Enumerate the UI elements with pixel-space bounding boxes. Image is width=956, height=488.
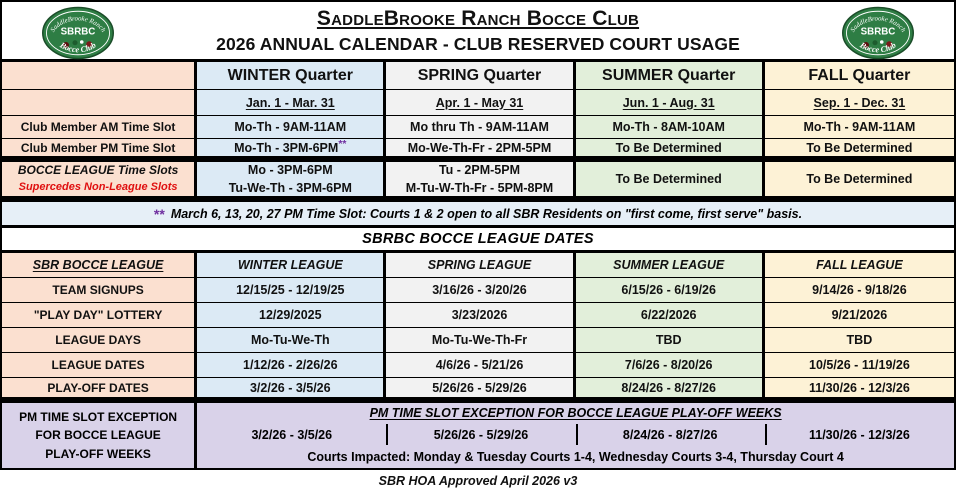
header-winter-quarter: WINTER Quarter [197,62,386,90]
label-league-dates: LEAGUE DATES [2,353,197,378]
pm-exception-label-line3: PLAY-OFF WEEKS [45,445,151,464]
league-row-team-signups: TEAM SIGNUPS 12/15/25 - 12/19/25 3/16/26… [2,278,954,303]
playoff-dates-summer: 8/24/26 - 8/27/26 [576,378,765,400]
league-row-play-day-lottery: "PLAY DAY" LOTTERY 12/29/2025 3/23/2026 … [2,303,954,328]
pm-winter-value: Mo-Th - 3PM-6PM** [197,139,386,159]
league-winter-line2: Tu-We-Th - 3PM-6PM [229,179,352,197]
pm-exception-block: PM TIME SLOT EXCEPTION FOR BOCCE LEAGUE … [2,403,954,470]
header-spring-quarter: SPRING Quarter [386,62,575,90]
footnote-stars: ** [154,206,165,222]
am-winter-value: Mo-Th - 9AM-11AM [197,116,386,139]
pm-exception-date-winter: 3/2/26 - 3/5/26 [197,423,386,446]
header-summer-quarter: SUMMER Quarter [576,62,765,90]
league-days-fall: TBD [765,328,954,353]
page-title: SaddleBrooke Ranch Bocce Club [216,8,740,30]
team-signups-fall: 9/14/26 - 9/18/26 [765,278,954,303]
dates-fall-quarter: Sep. 1 - Dec. 31 [765,90,954,116]
pm-exception-content: PM TIME SLOT EXCEPTION FOR BOCCE LEAGUE … [197,403,954,468]
pm-fall-value: To Be Determined [765,139,954,159]
league-days-spring: Mo-Tu-We-Th-Fr [386,328,575,353]
pm-exception-label-line2: FOR BOCCE LEAGUE [35,426,160,445]
team-signups-summer: 6/15/26 - 6/19/26 [576,278,765,303]
league-section-title: SBRBC BOCCE LEAGUE DATES [2,228,954,253]
league-header-row: SBR BOCCE LEAGUE WINTER LEAGUE SPRING LE… [2,253,954,278]
lottery-summer: 6/22/2026 [576,303,765,328]
lottery-winter: 12/29/2025 [197,303,386,328]
am-spring-value: Mo thru Th - 9AM-11AM [386,116,575,139]
footnote-text: March 6, 13, 20, 27 PM Time Slot: Courts… [171,207,802,221]
playoff-dates-spring: 5/26/26 - 5/29/26 [386,378,575,400]
svg-text:SBRBC: SBRBC [61,27,96,38]
pm-summer-value: To Be Determined [576,139,765,159]
label-league-days: LEAGUE DAYS [2,328,197,353]
pm-exception-dates-row: 3/2/26 - 3/5/26 5/26/26 - 5/29/26 8/24/2… [197,423,954,446]
pm-winter-text: Mo-Th - 3PM-6PM [234,142,338,156]
dates-spring-quarter: Apr. 1 - May 31 [386,90,575,116]
league-fall-value: To Be Determined [765,162,954,199]
league-row-league-days: LEAGUE DAYS Mo-Tu-We-Th Mo-Tu-We-Th-Fr T… [2,328,954,353]
league-slots-label-main: BOCCE LEAGUE Time Slots [18,162,178,179]
row-label-am: Club Member AM Time Slot [2,116,197,139]
league-spring-value: Tu - 2PM-5PM M-Tu-W-Th-Fr - 5PM-8PM [386,162,575,199]
league-header-fall: FALL LEAGUE [765,253,954,278]
team-signups-winter: 12/15/25 - 12/19/25 [197,278,386,303]
dates-winter-quarter: Jan. 1 - Mar. 31 [197,90,386,116]
label-play-day-lottery: "PLAY DAY" LOTTERY [2,303,197,328]
corner-cell [2,62,197,90]
pm-exception-courts-impacted: Courts Impacted: Monday & Tuesday Courts… [197,446,954,468]
league-dates-winter: 1/12/26 - 2/26/26 [197,353,386,378]
header-bar: SaddleBrooke Ranch SBRBC Bocce Club Sadd… [0,0,956,62]
league-winter-value: Mo - 3PM-6PM Tu-We-Th - 3PM-6PM [197,162,386,199]
row-label-pm: Club Member PM Time Slot [2,139,197,159]
dates-summer-quarter: Jun. 1 - Aug. 31 [576,90,765,116]
league-row-playoff-dates: PLAY-OFF DATES 3/2/26 - 3/5/26 5/26/26 -… [2,378,954,403]
quarter-dates-row: Jan. 1 - Mar. 31 Apr. 1 - May 31 Jun. 1 … [2,90,954,116]
playoff-dates-fall: 11/30/26 - 12/3/26 [765,378,954,400]
header-fall-quarter: FALL Quarter [765,62,954,90]
league-header-winter: WINTER LEAGUE [197,253,386,278]
lottery-spring: 3/23/2026 [386,303,575,328]
header-titles: SaddleBrooke Ranch Bocce Club 2026 ANNUA… [216,8,740,53]
label-playoff-dates: PLAY-OFF DATES [2,378,197,400]
pm-exception-date-summer: 8/24/26 - 8/27/26 [576,423,765,446]
playoff-dates-winter: 3/2/26 - 3/5/26 [197,378,386,400]
team-signups-spring: 3/16/26 - 3/20/26 [386,278,575,303]
footnote-row: ** March 6, 13, 20, 27 PM Time Slot: Cou… [2,202,954,228]
am-fall-value: Mo-Th - 9AM-11AM [765,116,954,139]
league-header-label: SBR BOCCE LEAGUE [2,253,197,278]
page-subtitle: 2026 ANNUAL CALENDAR - CLUB RESERVED COU… [216,35,740,53]
lottery-fall: 9/21/2026 [765,303,954,328]
row-label-league-slots: BOCCE LEAGUE Time Slots Supercedes Non-L… [2,162,197,199]
league-days-winter: Mo-Tu-We-Th [197,328,386,353]
league-dates-spring: 4/6/26 - 5/21/26 [386,353,575,378]
league-summer-value: To Be Determined [576,162,765,199]
league-header-spring: SPRING LEAGUE [386,253,575,278]
footnote-star-marker: ** [338,139,346,150]
row-pm-time-slot: Club Member PM Time Slot Mo-Th - 3PM-6PM… [2,139,954,162]
league-spring-line1: Tu - 2PM-5PM [439,162,520,179]
pm-exception-label: PM TIME SLOT EXCEPTION FOR BOCCE LEAGUE … [2,403,197,468]
pm-exception-title: PM TIME SLOT EXCEPTION FOR BOCCE LEAGUE … [197,403,954,423]
league-days-summer: TBD [576,328,765,353]
club-logo-left: SaddleBrooke Ranch SBRBC Bocce Club [40,6,116,60]
pm-spring-value: Mo-We-Th-Fr - 2PM-5PM [386,139,575,159]
quarter-dates-label [2,90,197,116]
league-dates-fall: 10/5/26 - 11/19/26 [765,353,954,378]
bocce-calendar-sheet: SaddleBrooke Ranch SBRBC Bocce Club Sadd… [0,0,956,488]
quarter-header-row: WINTER Quarter SPRING Quarter SUMMER Qua… [2,62,954,90]
court-usage-table: WINTER Quarter SPRING Quarter SUMMER Qua… [0,62,956,470]
svg-text:SBRBC: SBRBC [861,27,896,38]
league-winter-line1: Mo - 3PM-6PM [248,162,333,179]
pm-exception-label-line1: PM TIME SLOT EXCEPTION [19,408,177,427]
league-header-summer: SUMMER LEAGUE [576,253,765,278]
league-spring-line2: M-Tu-W-Th-Fr - 5PM-8PM [406,179,553,197]
league-dates-summer: 7/6/26 - 8/20/26 [576,353,765,378]
pm-exception-date-spring: 5/26/26 - 5/29/26 [386,423,575,446]
club-logo-right: SaddleBrooke Ranch SBRBC Bocce Club [840,6,916,60]
approval-footer: SBR HOA Approved April 2026 v3 [0,470,956,488]
row-league-time-slots: BOCCE LEAGUE Time Slots Supercedes Non-L… [2,162,954,202]
league-slots-label-note: Supercedes Non-League Slots [19,180,178,196]
pm-exception-date-fall: 11/30/26 - 12/3/26 [765,423,954,446]
row-am-time-slot: Club Member AM Time Slot Mo-Th - 9AM-11A… [2,116,954,139]
am-summer-value: Mo-Th - 8AM-10AM [576,116,765,139]
league-row-league-dates: LEAGUE DATES 1/12/26 - 2/26/26 4/6/26 - … [2,353,954,378]
pm-exception-title-text: PM TIME SLOT EXCEPTION FOR BOCCE LEAGUE … [370,406,782,420]
label-team-signups: TEAM SIGNUPS [2,278,197,303]
